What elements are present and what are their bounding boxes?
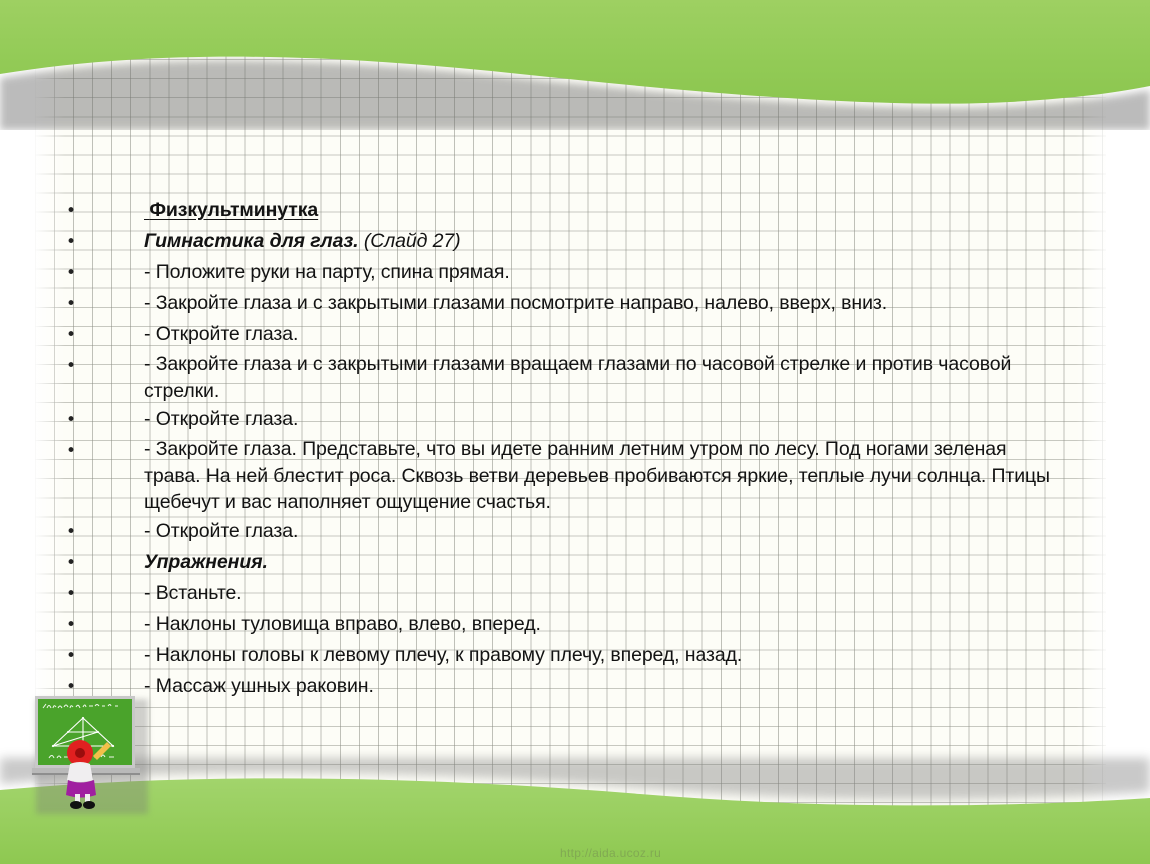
list-item: • - Закройте глаза. Представьте, что вы … — [56, 436, 1066, 516]
line-naklony-tulovishcha: - Наклоны туловища вправо, влево, вперед… — [144, 610, 1066, 639]
list-item: • Гимнастика для глаз. (Слайд 27) — [56, 227, 1066, 257]
list-item: • Упражнения. — [56, 548, 1066, 578]
bullet-icon: • — [66, 351, 82, 381]
list-item: • Физкультминутка — [56, 196, 1066, 226]
line-fizkultminutka: Физкультминутка — [144, 196, 1066, 225]
list-item: • - Откройте глаза. — [56, 405, 1066, 435]
line-gimnastika: Гимнастика для глаз. (Слайд 27) — [144, 227, 1066, 256]
line-otkroyte-2: - Откройте глаза. — [144, 405, 1066, 434]
list-item: • - Наклоны туловища вправо, влево, впер… — [56, 610, 1066, 640]
pupil-shoe-left — [70, 801, 82, 809]
bullet-list: • Физкультминутка • Гимнастика для глаз.… — [56, 196, 1066, 703]
list-item: • - Закройте глаза и с закрытыми глазами… — [56, 351, 1066, 404]
list-item: • - Откройте глаза. — [56, 320, 1066, 350]
bullet-icon: • — [66, 289, 82, 319]
list-item: • - Встаньте. — [56, 579, 1066, 609]
list-item: • - Положите руки на парту, спина прямая… — [56, 258, 1066, 288]
watermark-url: http://aida.ucoz.ru — [560, 846, 661, 860]
line-naklony-golovy: - Наклоны головы к левому плечу, к право… — [144, 641, 1066, 670]
bullet-icon: • — [66, 258, 82, 288]
list-item: • - Откройте глаза. — [56, 517, 1066, 547]
line-massazh: - Массаж ушных раковин. — [144, 672, 1066, 701]
pupil-hair-crown — [75, 748, 85, 758]
pupil-blouse — [67, 762, 93, 782]
line-zakroyte-2: - Закройте глаза и с закрытыми глазами в… — [144, 351, 1066, 404]
line-otkroyte-1: - Откройте глаза. — [144, 320, 1066, 349]
pupil-shoe-right — [83, 801, 95, 809]
line-gimnastika-main: Гимнастика для глаз. — [144, 230, 359, 252]
list-item: • - Закройте глаза и с закрытыми глазами… — [56, 289, 1066, 319]
bullet-icon: • — [66, 641, 82, 671]
line-zakroyte-3: - Закройте глаза. Представьте, что вы ид… — [144, 436, 1066, 516]
bullet-icon: • — [66, 196, 82, 226]
bullet-icon: • — [66, 320, 82, 350]
bullet-icon: • — [66, 579, 82, 609]
clipart-pupil-at-chalkboard — [31, 694, 143, 812]
bullet-icon: • — [66, 405, 82, 435]
line-vstante: - Встаньте. — [144, 579, 1066, 608]
bullet-icon: • — [66, 227, 82, 257]
list-item: • - Массаж ушных раковин. — [56, 672, 1066, 702]
line-gimnastika-slide-ref: (Слайд 27) — [359, 230, 461, 252]
line-otkroyte-3: - Откройте глаза. — [144, 517, 1066, 546]
pupil-skirt — [66, 780, 96, 798]
bullet-icon: • — [66, 517, 82, 547]
line-zakroyte-1: - Закройте глаза и с закрытыми глазами п… — [144, 289, 1066, 318]
line-ruki-na-partu: - Положите руки на парту, спина прямая. — [144, 258, 1066, 287]
bullet-icon: • — [66, 436, 82, 466]
slide-canvas: • Физкультминутка • Гимнастика для глаз.… — [0, 0, 1150, 864]
bullet-icon: • — [66, 548, 82, 578]
top-green-banner — [0, 0, 1150, 130]
bullet-icon: • — [66, 610, 82, 640]
line-uprazhneniya: Упражнения. — [144, 548, 1066, 577]
list-item: • - Наклоны головы к левому плечу, к пра… — [56, 641, 1066, 671]
